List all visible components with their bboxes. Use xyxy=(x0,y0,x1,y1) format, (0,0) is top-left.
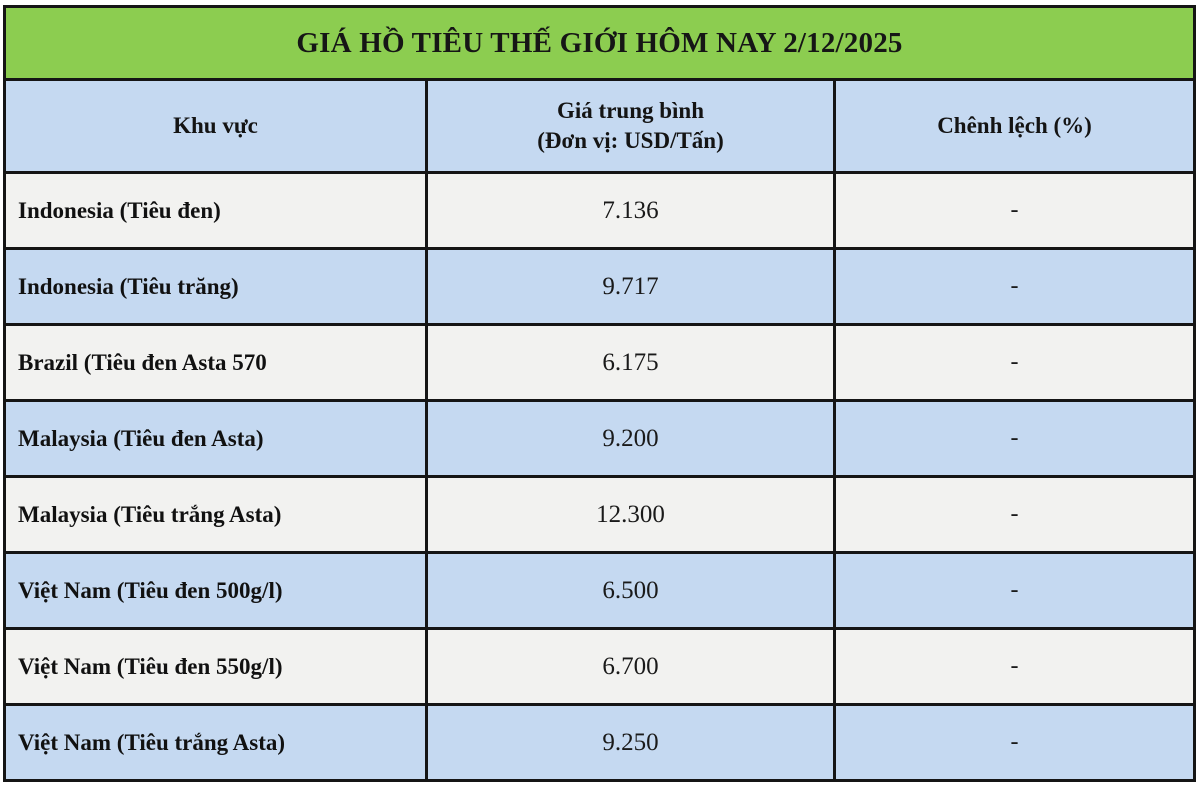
cell-region: Việt Nam (Tiêu đen 500g/l) xyxy=(5,553,427,629)
cell-price: 9.717 xyxy=(427,249,835,325)
cell-region: Brazil (Tiêu đen Asta 570 xyxy=(5,325,427,401)
column-header-change: Chênh lệch (%) xyxy=(835,80,1195,173)
cell-change: - xyxy=(835,705,1195,781)
table-container: GIÁ HỒ TIÊU THẾ GIỚI HÔM NAY 2/12/2025 K… xyxy=(3,5,1193,782)
cell-region: Việt Nam (Tiêu trắng Asta) xyxy=(5,705,427,781)
cell-region: Malaysia (Tiêu trắng Asta) xyxy=(5,477,427,553)
table-row: Việt Nam (Tiêu đen 500g/l) 6.500 - xyxy=(5,553,1195,629)
table-row: Indonesia (Tiêu trăng) 9.717 - xyxy=(5,249,1195,325)
cell-change: - xyxy=(835,629,1195,705)
table-header-row: Khu vực Giá trung bình (Đơn vị: USD/Tấn)… xyxy=(5,80,1195,173)
cell-price: 7.136 xyxy=(427,173,835,249)
cell-change: - xyxy=(835,325,1195,401)
cell-price: 9.250 xyxy=(427,705,835,781)
cell-price: 6.700 xyxy=(427,629,835,705)
cell-price: 9.200 xyxy=(427,401,835,477)
cell-price: 12.300 xyxy=(427,477,835,553)
cell-change: - xyxy=(835,477,1195,553)
cell-region: Indonesia (Tiêu đen) xyxy=(5,173,427,249)
column-header-price-label: Giá trung bình xyxy=(428,96,833,126)
column-header-region: Khu vực xyxy=(5,80,427,173)
table-title-row: GIÁ HỒ TIÊU THẾ GIỚI HÔM NAY 2/12/2025 xyxy=(5,7,1195,80)
pepper-price-table-page: Doanh nghiệp hội nhập GIÁ HỒ TIÊU THẾ GI… xyxy=(0,0,1200,800)
cell-change: - xyxy=(835,401,1195,477)
cell-change: - xyxy=(835,173,1195,249)
table-row: Malaysia (Tiêu trắng Asta) 12.300 - xyxy=(5,477,1195,553)
table-row: Brazil (Tiêu đen Asta 570 6.175 - xyxy=(5,325,1195,401)
cell-price: 6.500 xyxy=(427,553,835,629)
column-header-change-label: Chênh lệch (%) xyxy=(836,111,1193,141)
table-row: Indonesia (Tiêu đen) 7.136 - xyxy=(5,173,1195,249)
column-header-region-label: Khu vực xyxy=(6,111,425,141)
cell-region: Malaysia (Tiêu đen Asta) xyxy=(5,401,427,477)
cell-price: 6.175 xyxy=(427,325,835,401)
pepper-price-table: GIÁ HỒ TIÊU THẾ GIỚI HÔM NAY 2/12/2025 K… xyxy=(3,5,1196,782)
table-row: Việt Nam (Tiêu trắng Asta) 9.250 - xyxy=(5,705,1195,781)
cell-region: Indonesia (Tiêu trăng) xyxy=(5,249,427,325)
table-row: Việt Nam (Tiêu đen 550g/l) 6.700 - xyxy=(5,629,1195,705)
cell-region: Việt Nam (Tiêu đen 550g/l) xyxy=(5,629,427,705)
cell-change: - xyxy=(835,553,1195,629)
page-title: GIÁ HỒ TIÊU THẾ GIỚI HÔM NAY 2/12/2025 xyxy=(5,7,1195,80)
column-header-price-unit: (Đơn vị: USD/Tấn) xyxy=(428,126,833,156)
column-header-price: Giá trung bình (Đơn vị: USD/Tấn) xyxy=(427,80,835,173)
cell-change: - xyxy=(835,249,1195,325)
table-row: Malaysia (Tiêu đen Asta) 9.200 - xyxy=(5,401,1195,477)
